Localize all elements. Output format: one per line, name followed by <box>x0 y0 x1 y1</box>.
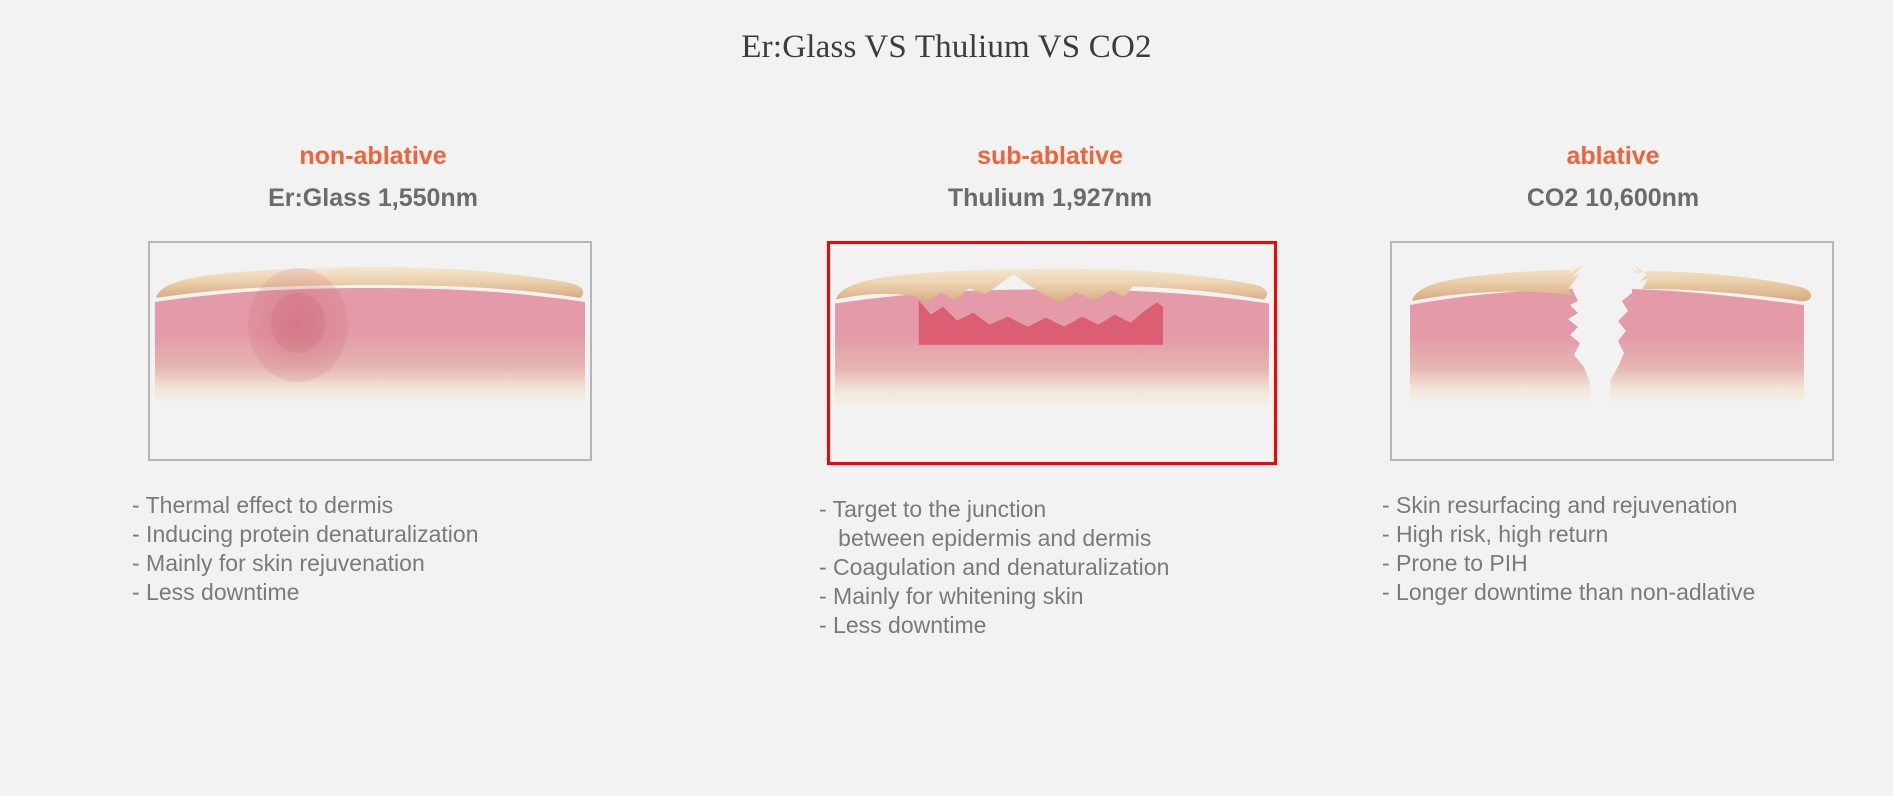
column-type-label: non-ablative <box>150 140 596 172</box>
list-item: - High risk, high return <box>1382 520 1893 549</box>
diagram-box-sub-ablative-highlighted <box>827 241 1277 465</box>
column-type-label: sub-ablative <box>827 140 1273 172</box>
diagram-box-non-ablative <box>148 241 592 461</box>
comparison-columns: non-ablative Er:Glass 1,550nm <box>0 140 1893 640</box>
list-item: between epidermis and dermis <box>819 524 1270 553</box>
list-item: - Thermal effect to dermis <box>132 491 694 520</box>
column-type-label: ablative <box>1390 140 1836 172</box>
bullet-list-ablative: - Skin resurfacing and rejuvenation - Hi… <box>1382 491 1893 607</box>
list-item: - Less downtime <box>819 611 1270 640</box>
skin-cross-section-deep-ablation-channel-icon <box>1392 243 1832 459</box>
comparison-column-non-ablative: non-ablative Er:Glass 1,550nm <box>0 140 694 640</box>
list-item: - Inducing protein denaturalization <box>132 520 694 549</box>
list-item: - Coagulation and denaturalization <box>819 553 1270 582</box>
comparison-column-ablative: ablative CO2 10,600nm <box>1270 140 1893 640</box>
list-item: - Mainly for whitening skin <box>819 582 1270 611</box>
bullet-list-non-ablative: - Thermal effect to dermis - Inducing pr… <box>132 491 694 607</box>
bullet-list-sub-ablative: - Target to the junction between epiderm… <box>819 495 1270 640</box>
column-device-label: Er:Glass 1,550nm <box>150 181 596 215</box>
skin-cross-section-thermal-zone-icon <box>150 243 590 459</box>
list-item: - Longer downtime than non-adlative <box>1382 578 1893 607</box>
list-item: - Prone to PIH <box>1382 549 1893 578</box>
list-item: - Skin resurfacing and rejuvenation <box>1382 491 1893 520</box>
column-device-label: Thulium 1,927nm <box>827 181 1273 215</box>
diagram-box-ablative <box>1390 241 1834 461</box>
list-item: - Mainly for skin rejuvenation <box>132 549 694 578</box>
column-device-label: CO2 10,600nm <box>1390 181 1836 215</box>
column-heading: ablative CO2 10,600nm <box>1390 140 1836 215</box>
list-item: - Less downtime <box>132 578 694 607</box>
skin-cross-section-shallow-ablation-icon <box>830 244 1274 462</box>
list-item: - Target to the junction <box>819 495 1270 524</box>
page-title: Er:Glass VS Thulium VS CO2 <box>0 29 1893 66</box>
column-heading: sub-ablative Thulium 1,927nm <box>827 140 1273 215</box>
comparison-column-sub-ablative: sub-ablative Thulium 1,927nm <box>694 140 1270 640</box>
column-heading: non-ablative Er:Glass 1,550nm <box>150 140 596 215</box>
